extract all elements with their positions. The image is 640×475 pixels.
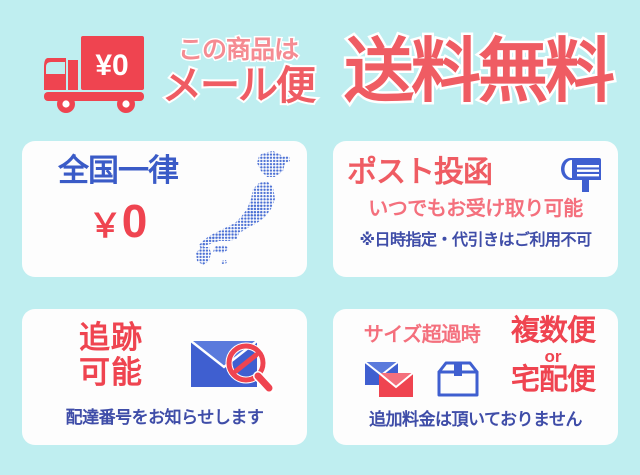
card-post-delivery: ポスト投函 いつでもお受け取り可能 ※日時指定・代引きはご利用不可 [333, 141, 618, 277]
header-kicker: この商品は [178, 38, 298, 63]
card-tracking-available: 追跡 可能 配達番号をお知らせします [22, 309, 307, 445]
card-oversize-shipping: サイズ超過時 複数便 or 宅配便 [333, 309, 618, 445]
tracking-title-line2: 可能 [46, 356, 176, 391]
tracking-note: 配達番号をお知らせします [22, 409, 307, 426]
oversize-options: 複数便 or 宅配便 [495, 317, 611, 395]
flat-rate-price: ￥0 [38, 198, 198, 244]
truck-icon: ¥0 [38, 34, 146, 114]
oversize-option-2: 宅配便 [495, 366, 611, 395]
header-method-block: この商品は メール便 [156, 26, 320, 118]
mailbox-icon [557, 153, 605, 193]
japan-map-icon [193, 147, 301, 271]
oversize-icon-row [351, 357, 493, 401]
price-amount: 0 [122, 195, 148, 247]
oversize-conjunction: or [495, 348, 611, 365]
header-shipping-method: メール便 [162, 66, 314, 106]
header-headline: 送料無料 [326, 30, 630, 112]
tracking-title: 追跡 可能 [46, 321, 176, 390]
oversize-condition: サイズ超過時 [347, 325, 497, 345]
flat-rate-text-block: 全国一律 ￥0 [38, 155, 198, 244]
double-envelope-icon [364, 359, 416, 399]
post-delivery-title-row: ポスト投函 [347, 151, 605, 195]
post-delivery-subtitle: いつでもお受け取り可能 [333, 199, 618, 219]
oversize-note: 追加料金は頂いておりません [333, 411, 618, 428]
flat-rate-title: 全国一律 [38, 155, 198, 188]
post-delivery-title: ポスト投函 [347, 158, 492, 188]
card-nationwide-flat-rate: 全国一律 ￥0 [22, 141, 307, 277]
envelope-magnifier-icon [190, 337, 276, 395]
oversize-option-1: 複数便 [495, 317, 611, 346]
feature-card-grid: 全国一律 ￥0 [22, 141, 618, 445]
price-currency-symbol: ￥ [89, 207, 122, 244]
shipping-info-banner: ¥0 この商品は メール便 送料無料 全国一律 ￥0 [0, 0, 640, 475]
post-delivery-note: ※日時指定・代引きはご利用不可 [333, 233, 618, 249]
banner-header: ¥0 この商品は メール便 送料無料 [0, 0, 640, 132]
tracking-title-line1: 追跡 [46, 321, 176, 356]
parcel-box-icon [436, 359, 480, 399]
truck-price-label: ¥0 [95, 49, 128, 82]
